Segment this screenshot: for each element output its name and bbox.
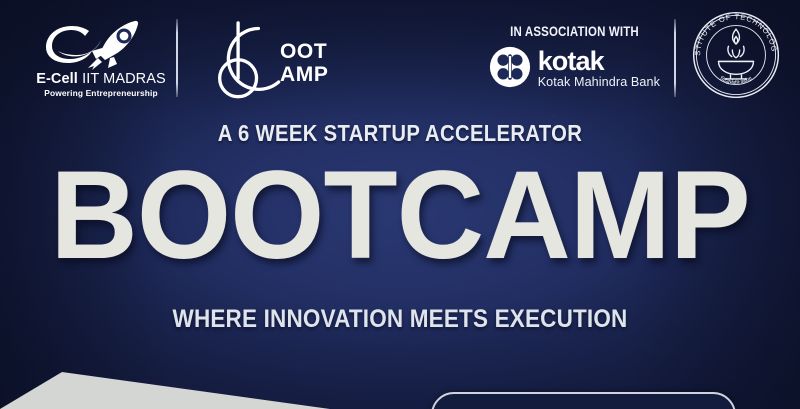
association-block: IN ASSOCIATION WITH [489, 23, 660, 93]
header-right-group: IN ASSOCIATION WITH [489, 9, 782, 106]
poster-canvas: E-Cell IIT MADRAS Powering Entrepreneurs… [0, 0, 800, 409]
rounded-cta-button[interactable] [431, 392, 736, 409]
ecell-logo: E-Cell IIT MADRAS Powering Entrepreneurs… [26, 18, 176, 98]
kotak-clover-icon [489, 46, 531, 93]
page-title: BOOTCAMP [12, 152, 788, 280]
kotak-name: kotak [538, 49, 660, 74]
ecell-tagline: Powering Entrepreneurship [44, 89, 158, 97]
iit-madras-seal-icon: INDIAN INSTITUTE OF TECHNOLOGY MADRAS सि… [690, 88, 782, 105]
vertical-divider-icon [674, 19, 676, 97]
vertical-divider-icon [176, 19, 178, 97]
svg-text:सिद्धिर्भवति कर्मजा: सिद्धिर्भवति कर्मजा [719, 75, 754, 86]
bootcamp-word-amp: AMP [280, 64, 328, 86]
ecell-name: E-Cell IIT MADRAS [36, 72, 166, 87]
ecell-rocket-icon [42, 18, 160, 70]
kotak-logo: kotak Kotak Mahindra Bank [489, 46, 660, 93]
association-label: IN ASSOCIATION WITH [510, 23, 639, 39]
bootcamp-word-oot: OOT [280, 41, 328, 63]
kotak-fullname: Kotak Mahindra Bank [538, 76, 660, 89]
ecell-name-bold: E-Cell [36, 71, 78, 87]
bootcamp-logo: OOT AMP [192, 13, 328, 103]
kicker-text: A 6 WEEK STARTUP ACCELERATOR [48, 120, 752, 147]
tagline-text: WHERE INNOVATION MEETS EXECUTION [40, 305, 760, 334]
bootcamp-wordmark: OOT AMP [280, 41, 328, 85]
header-left-group: E-Cell IIT MADRAS Powering Entrepreneurs… [26, 13, 328, 103]
triangle-accent-shape [0, 368, 330, 409]
iit-madras-logo: INDIAN INSTITUTE OF TECHNOLOGY MADRAS सि… [690, 9, 782, 106]
poster-header: E-Cell IIT MADRAS Powering Entrepreneurs… [0, 0, 800, 115]
kotak-wordmark: kotak Kotak Mahindra Bank [538, 49, 660, 88]
ecell-name-light: IIT MADRAS [82, 71, 166, 87]
